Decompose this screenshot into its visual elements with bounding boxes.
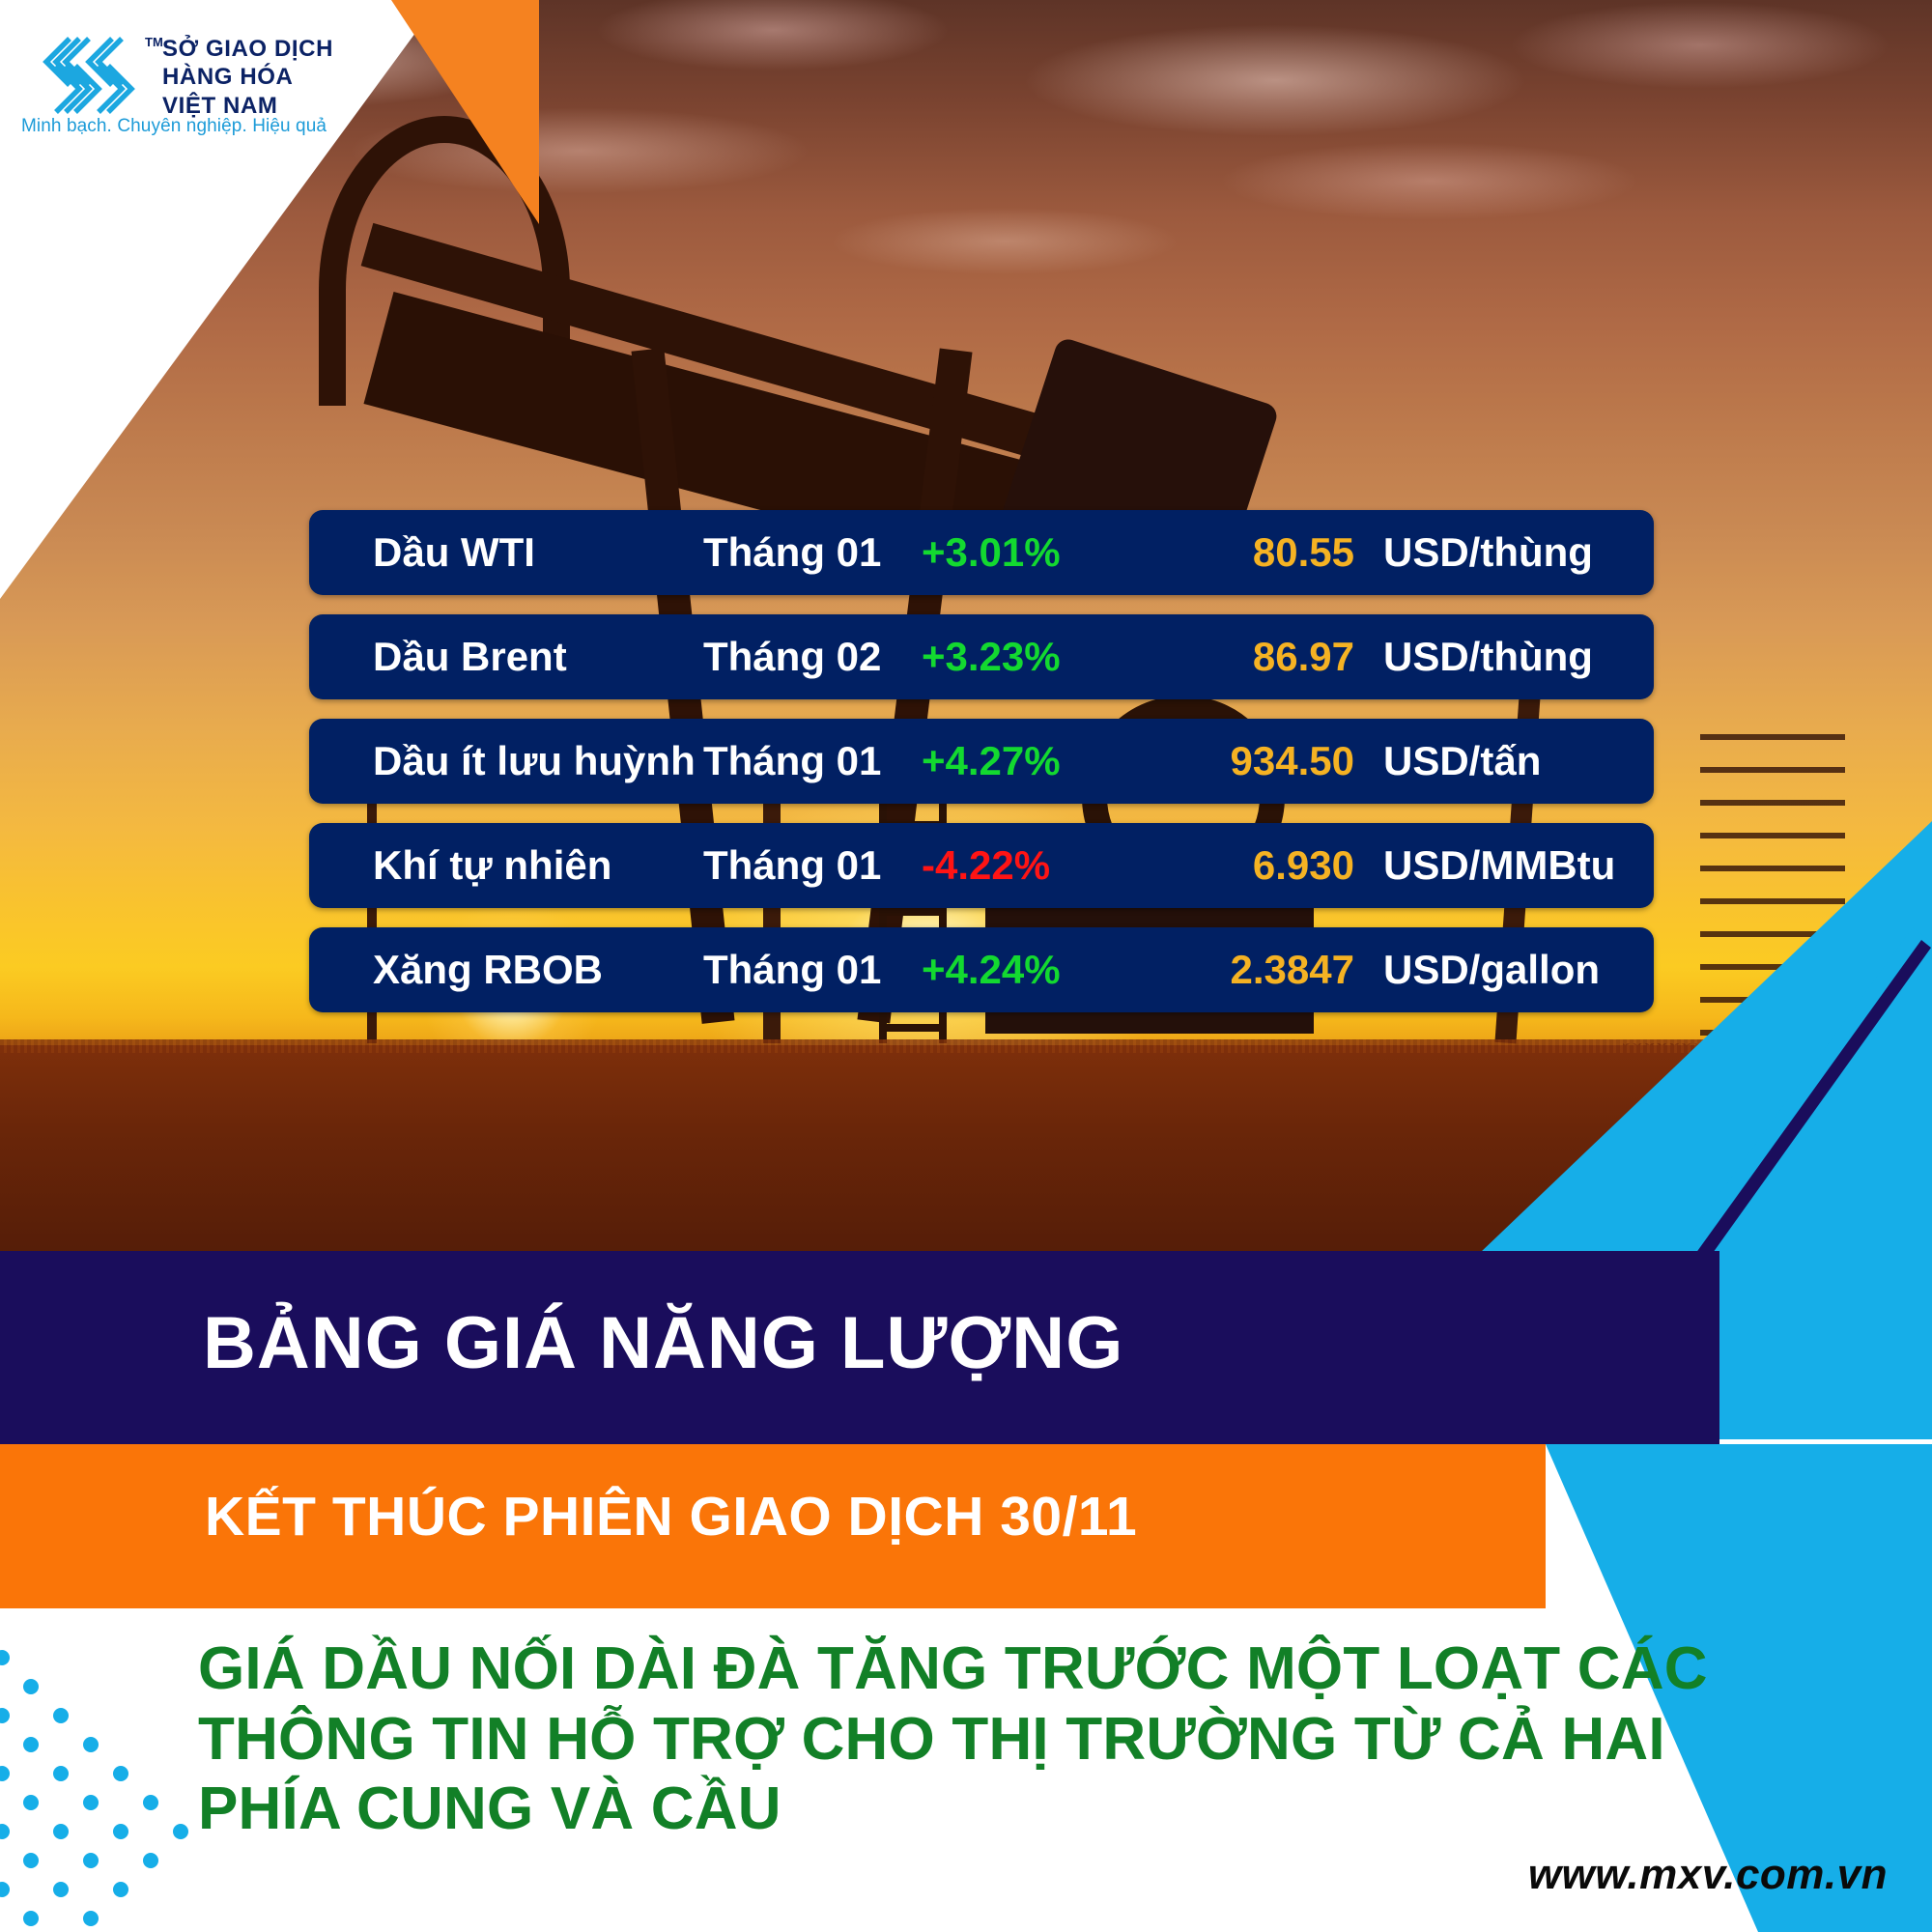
price-unit: USD/thùng bbox=[1354, 529, 1654, 576]
commodity-name: Xăng RBOB bbox=[309, 947, 703, 993]
brand-tagline: Minh bạch. Chuyên nghiệp. Hiệu quả bbox=[21, 116, 327, 137]
contract-month: Tháng 01 bbox=[703, 738, 922, 784]
headline-line3: PHÍA CUNG VÀ CẦU bbox=[198, 1775, 1763, 1845]
blue-dot-pattern bbox=[0, 1642, 216, 1932]
price-value: 6.930 bbox=[1128, 842, 1354, 889]
table-row[interactable]: Xăng RBOB Tháng 01 +4.24% 2.3847 USD/gal… bbox=[309, 927, 1654, 1012]
website-url[interactable]: www.mxv.com.vn bbox=[1528, 1851, 1888, 1899]
brand-name-line2: HÀNG HÓA bbox=[162, 63, 333, 91]
energy-price-table: Dầu WTI Tháng 01 +3.01% 80.55 USD/thùng … bbox=[309, 510, 1654, 1032]
price-value: 86.97 bbox=[1128, 634, 1354, 680]
commodity-name: Dầu Brent bbox=[309, 634, 703, 680]
change-percent: -4.22% bbox=[922, 842, 1128, 889]
brand-name-line1: SỞ GIAO DỊCH bbox=[162, 35, 333, 63]
contract-month: Tháng 01 bbox=[703, 842, 922, 889]
commodity-name: Khí tự nhiên bbox=[309, 842, 703, 889]
table-row[interactable]: Dầu Brent Tháng 02 +3.23% 86.97 USD/thùn… bbox=[309, 614, 1654, 699]
price-value: 2.3847 bbox=[1128, 947, 1354, 993]
mxv-waves-logo-icon bbox=[27, 33, 141, 118]
commodity-name: Dầu WTI bbox=[309, 529, 703, 576]
navy-square-accent bbox=[1491, 1251, 1655, 1444]
title-band: BẢNG GIÁ NĂNG LƯỢNG bbox=[0, 1251, 1719, 1444]
change-percent: +3.23% bbox=[922, 634, 1128, 680]
contract-month: Tháng 02 bbox=[703, 634, 922, 680]
table-row[interactable]: Dầu ít lưu huỳnh Tháng 01 +4.27% 934.50 … bbox=[309, 719, 1654, 804]
price-unit: USD/gallon bbox=[1354, 947, 1654, 993]
price-unit: USD/MMBtu bbox=[1354, 842, 1654, 889]
change-percent: +4.24% bbox=[922, 947, 1128, 993]
subtitle-band: KẾT THÚC PHIÊN GIAO DỊCH 30/11 bbox=[0, 1444, 1546, 1608]
price-value: 80.55 bbox=[1128, 529, 1354, 576]
brand-name: SỞ GIAO DỊCH HÀNG HÓA VIỆT NAM bbox=[162, 35, 333, 120]
table-row[interactable]: Dầu WTI Tháng 01 +3.01% 80.55 USD/thùng bbox=[309, 510, 1654, 595]
contract-month: Tháng 01 bbox=[703, 529, 922, 576]
change-percent: +4.27% bbox=[922, 738, 1128, 784]
headline-line2: THÔNG TIN HỖ TRỢ CHO THỊ TRƯỜNG TỪ CẢ HA… bbox=[198, 1705, 1763, 1776]
trademark-symbol: TM bbox=[145, 35, 163, 49]
price-unit: USD/tấn bbox=[1354, 738, 1654, 784]
table-row[interactable]: Khí tự nhiên Tháng 01 -4.22% 6.930 USD/M… bbox=[309, 823, 1654, 908]
price-unit: USD/thùng bbox=[1354, 634, 1654, 680]
commodity-name: Dầu ít lưu huỳnh bbox=[309, 738, 703, 784]
poster-canvas: TM SỞ GIAO DỊCH HÀNG HÓA VIỆT NAM Minh b… bbox=[0, 0, 1932, 1932]
news-headline: GIÁ DẦU NỐI DÀI ĐÀ TĂNG TRƯỚC MỘT LOẠT C… bbox=[198, 1634, 1763, 1845]
change-percent: +3.01% bbox=[922, 529, 1128, 576]
contract-month: Tháng 01 bbox=[703, 947, 922, 993]
session-subtitle: KẾT THÚC PHIÊN GIAO DỊCH 30/11 bbox=[205, 1485, 1137, 1548]
page-title: BẢNG GIÁ NĂNG LƯỢNG bbox=[203, 1301, 1123, 1385]
headline-line1: GIÁ DẦU NỐI DÀI ĐÀ TĂNG TRƯỚC MỘT LOẠT C… bbox=[198, 1634, 1763, 1705]
price-value: 934.50 bbox=[1128, 738, 1354, 784]
